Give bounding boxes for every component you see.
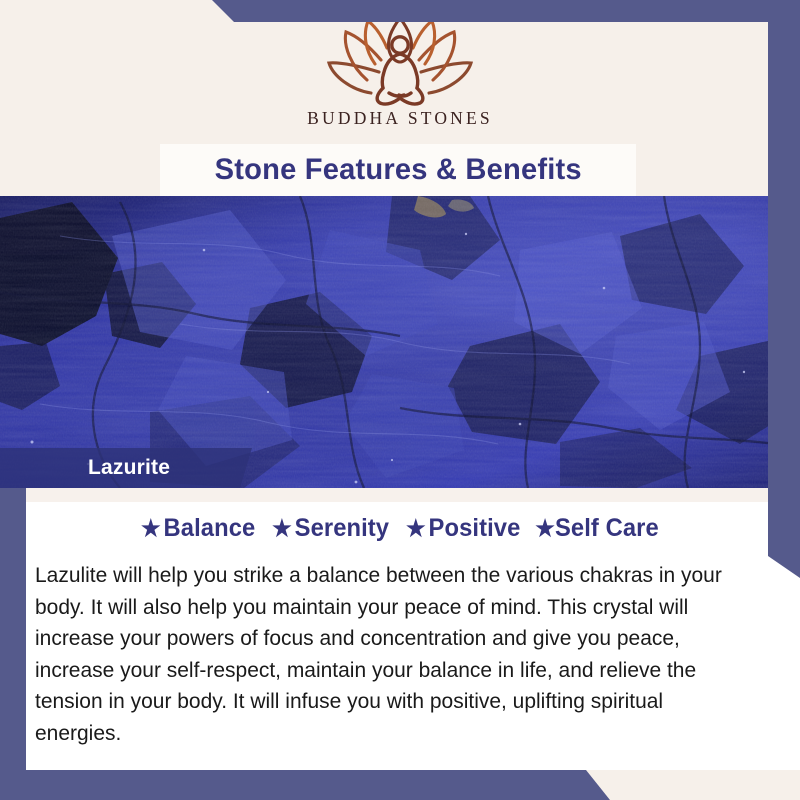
stone-name-band: Lazurite: [0, 448, 252, 488]
keyword-self-care: ★Self Care: [536, 514, 660, 543]
frame-bottom-accent: [0, 770, 800, 800]
keyword-list: ★Balance★Serenity★Positive★Self Care: [26, 514, 774, 543]
frame-left-accent: [0, 488, 26, 800]
keyword-label: Self Care: [555, 514, 659, 542]
star-icon: ★: [406, 515, 426, 541]
keyword-balance: ★Balance: [141, 514, 255, 543]
keyword-serenity: ★Serenity: [272, 514, 389, 543]
star-icon: ★: [272, 515, 292, 541]
lazurite-stone-image: [0, 196, 800, 488]
content-card: ★Balance★Serenity★Positive★Self Care Laz…: [26, 488, 800, 770]
card-top-strip: [26, 488, 774, 502]
page-title: Stone Features & Benefits: [214, 153, 581, 187]
brand-logo: BUDDHA STONES: [0, 14, 800, 129]
brand-name: BUDDHA STONES: [0, 108, 800, 129]
star-icon: ★: [141, 515, 161, 541]
keyword-label: Positive: [429, 514, 521, 542]
poster-canvas: BUDDHA STONES Stone Features & Benefits: [0, 0, 800, 800]
keyword-label: Serenity: [294, 514, 388, 542]
star-icon: ★: [536, 515, 556, 541]
frame-right-accent: [768, 0, 800, 578]
lotus-meditation-icon: [319, 14, 481, 106]
description-text: Lazulite will help you strike a balance …: [35, 560, 750, 749]
keyword-label: Balance: [163, 514, 255, 542]
title-banner: Stone Features & Benefits: [160, 144, 636, 196]
stone-name-label: Lazurite: [0, 456, 170, 480]
stone-photo: [0, 196, 800, 488]
keyword-positive: ★Positive: [406, 514, 520, 543]
